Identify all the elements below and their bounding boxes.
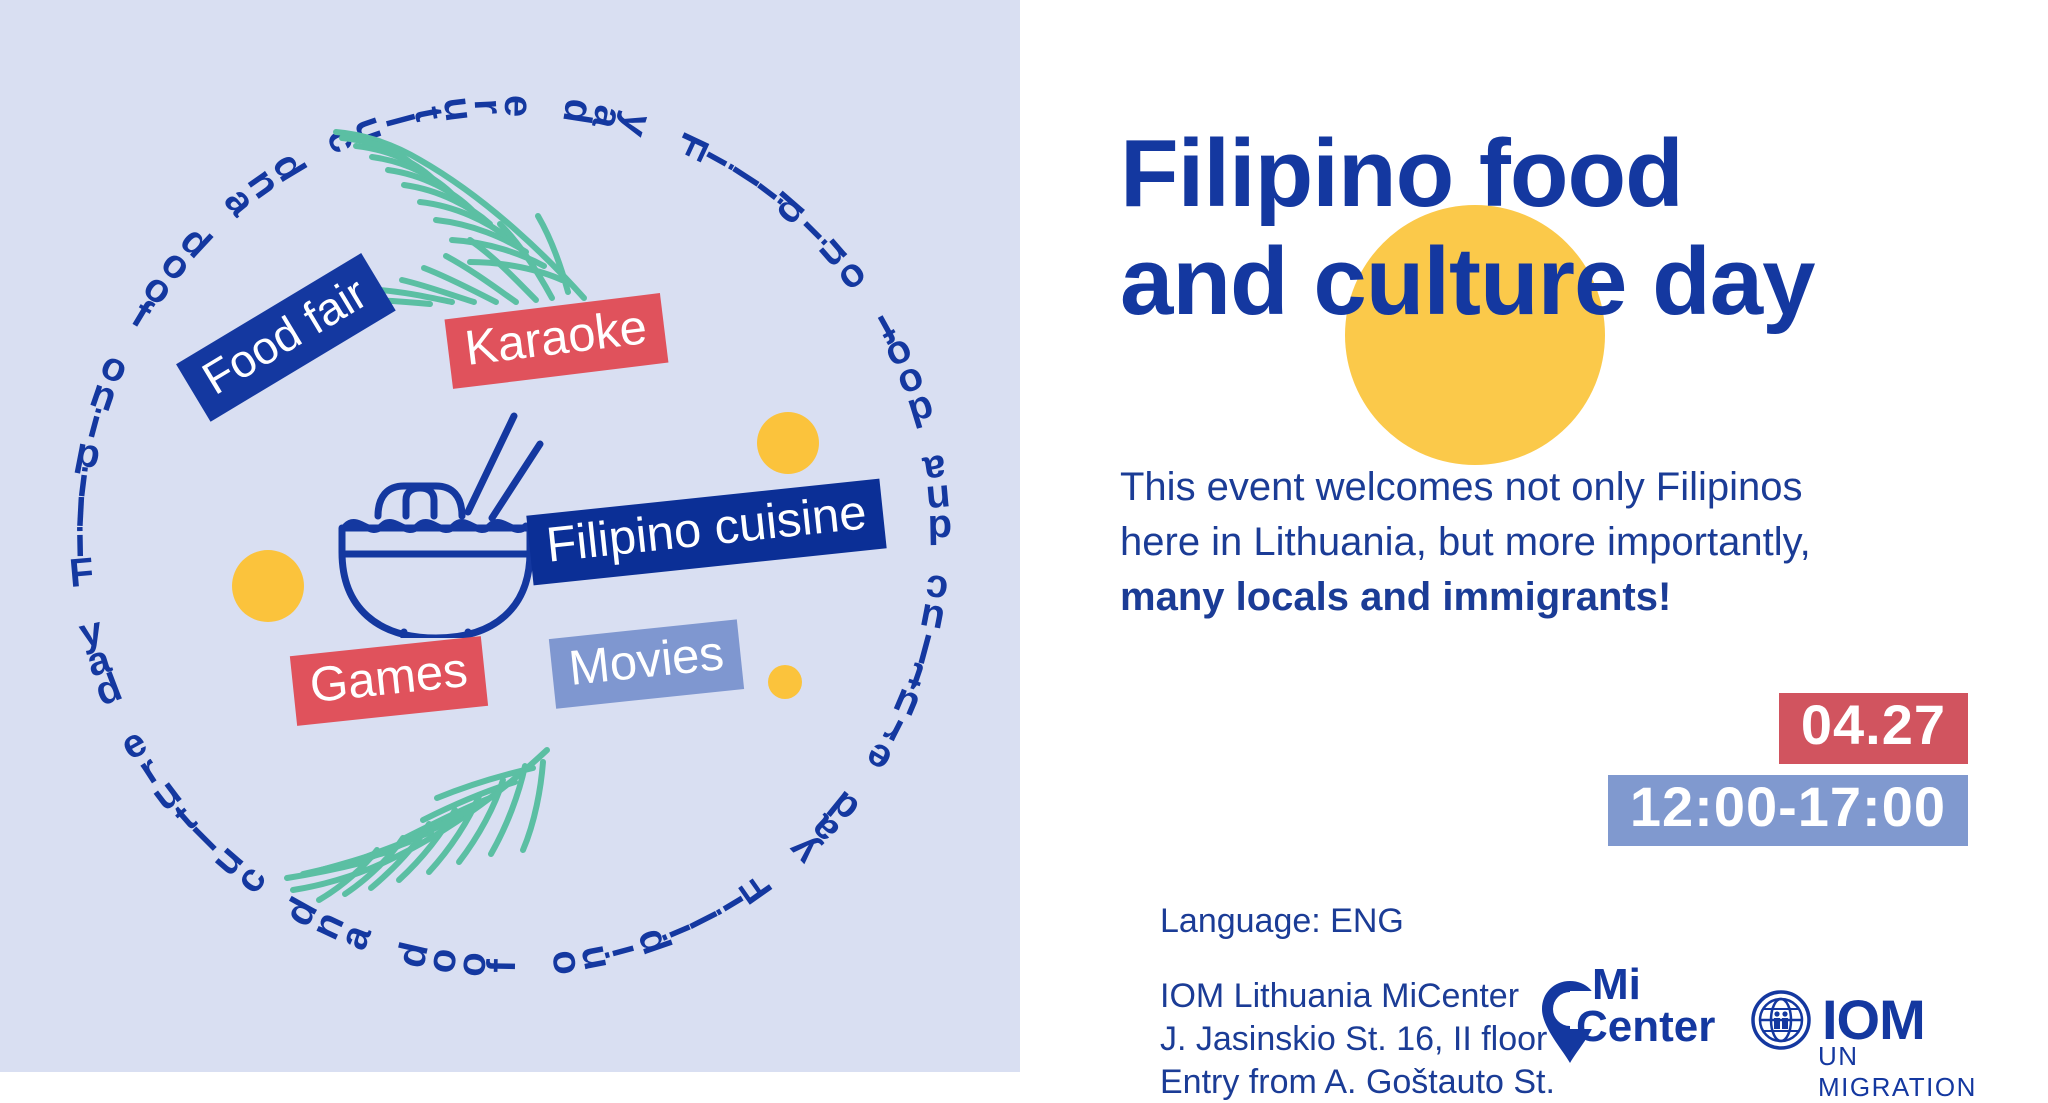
left-decorative-panel: FilipinofoodandculturedayFilipinofoodand… (0, 0, 1020, 1072)
decorative-dot (757, 412, 819, 474)
tag-movies: Movies (549, 619, 745, 709)
decorative-dot (232, 550, 304, 622)
venue-line-2: J. Jasinskio St. 16, II floor (1160, 1018, 1555, 1061)
micenter-center-text: Center (1576, 1005, 1715, 1049)
logo-row: Mi Center IOM UN MIGRATION (1540, 965, 1925, 1075)
venue-line-1: IOM Lithuania MiCenter (1160, 975, 1555, 1018)
venue-line-3: Entry from A. Goštauto St. (1160, 1061, 1555, 1103)
decorative-dot (768, 665, 802, 699)
ring-text-char: o (539, 948, 587, 978)
palm-leaf-icon (245, 740, 565, 920)
ring-text-char: e (857, 732, 899, 782)
description-line-2: here in Lithuania, but more importantly, (1120, 515, 1840, 570)
micenter-logo: Mi Center (1540, 965, 1690, 1075)
time-badge: 12:00-17:00 (1608, 775, 1968, 846)
globe-icon (1750, 989, 1812, 1051)
ring-text-char: y (611, 108, 661, 142)
ring-text-char: o (94, 343, 134, 394)
date-badge: 04.27 (1779, 693, 1968, 764)
ring-text-char: d (927, 506, 952, 551)
tag-food-fair: Food fair (176, 253, 395, 422)
headline-day-word: day (1652, 228, 1814, 335)
language-label: Language: ENG (1160, 902, 1404, 941)
description-line-1: This event welcomes not only Filipinos (1120, 460, 1840, 515)
ring-text-char: y (75, 608, 107, 657)
headline-line-2: and culture day (1120, 228, 2020, 336)
iom-logo: IOM UN MIGRATION (1750, 989, 1925, 1051)
venue-address: IOM Lithuania MiCenter J. Jasinskio St. … (1160, 975, 1555, 1103)
iom-tagline-text: UN MIGRATION (1818, 1041, 1977, 1103)
ring-text-char: e (495, 95, 540, 118)
right-info-panel: Filipino food and culture day This event… (1020, 0, 2048, 1072)
tag-filipino-cuisine: Filipino cuisine (526, 479, 887, 586)
description-line-3: many locals and immigrants! (1120, 570, 1840, 625)
event-description: This event welcomes not only Filipinos h… (1120, 460, 1840, 624)
ring-text-char: d (389, 938, 438, 972)
headline-line-1: Filipino food (1120, 120, 2020, 228)
ring-text-char: e (113, 719, 154, 769)
tag-games: Games (290, 636, 488, 726)
micenter-mi-text: Mi (1592, 963, 1641, 1007)
ring-text-char: d (903, 385, 940, 435)
iom-name-text: IOM (1822, 995, 1925, 1045)
headline-line-2-text: and culture (1120, 228, 1652, 335)
page-title: Filipino food and culture day (1120, 120, 2020, 335)
